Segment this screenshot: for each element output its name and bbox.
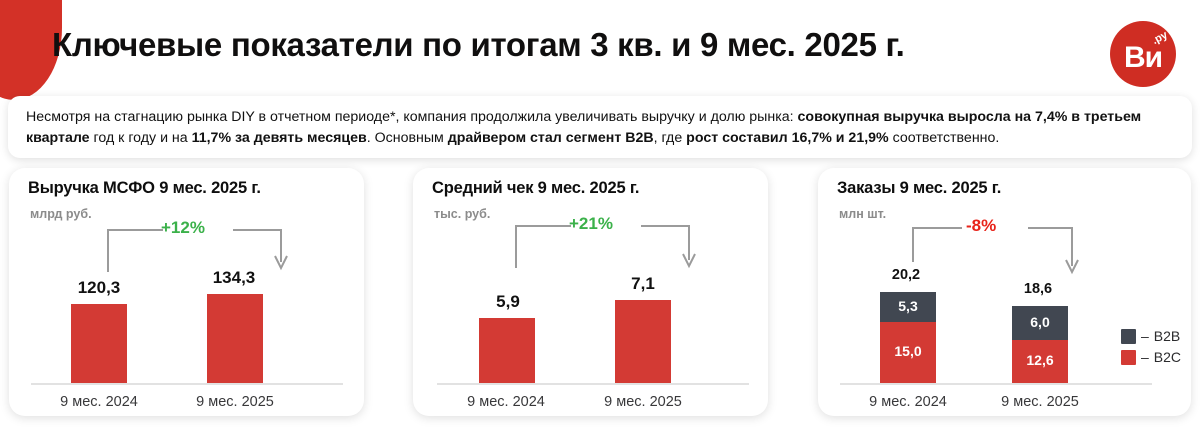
chart-plot-area: -8% 20,2 5,3 15,0 18,6 6,0 12,6 – bbox=[818, 168, 1191, 416]
page-title: Ключевые показатели по итогам 3 кв. и 9 … bbox=[52, 26, 905, 64]
bar-value-label: 120,3 bbox=[54, 278, 144, 298]
x-axis-line bbox=[31, 383, 343, 385]
legend-dash: – bbox=[1141, 328, 1149, 344]
legend-label-b2b: B2B bbox=[1154, 328, 1180, 344]
x-axis-line bbox=[437, 383, 749, 385]
bar-revenue-2024 bbox=[71, 304, 127, 384]
infographic-root: Ключевые показатели по итогам 3 кв. и 9 … bbox=[0, 0, 1200, 430]
summary-text: Несмотря на стагнацию рынка DIY в отчетн… bbox=[26, 107, 1174, 148]
delta-badge: -8% bbox=[966, 216, 996, 236]
page-header: Ключевые показатели по итогам 3 кв. и 9 … bbox=[0, 0, 1200, 100]
legend-swatch-b2c-icon bbox=[1121, 350, 1136, 365]
chart-legend: – B2B – B2C bbox=[1121, 328, 1181, 370]
summary-seg-8: рост составил 16,7% и 21,9% bbox=[686, 130, 888, 146]
summary-seg-1: Несмотря на стагнацию рынка DIY в отчетн… bbox=[26, 109, 798, 125]
legend-item-b2b: – B2B bbox=[1121, 328, 1181, 344]
x-tick-label: 9 мес. 2025 bbox=[185, 394, 285, 410]
chart-plot-area: +21% 5,9 7,1 9 мес. 2024 9 мес. 2025 bbox=[413, 168, 768, 416]
summary-seg-9: соответственно. bbox=[889, 130, 1000, 146]
kpi-card-revenue: Выручка МСФО 9 мес. 2025 г. млрд руб. +1… bbox=[9, 168, 364, 416]
summary-seg-7: , где bbox=[654, 130, 687, 146]
x-tick-label: 9 мес. 2025 bbox=[593, 394, 693, 410]
kpi-card-orders: Заказы 9 мес. 2025 г. млн шт. -8% 20,2 5… bbox=[818, 168, 1191, 416]
legend-swatch-b2b-icon bbox=[1121, 329, 1136, 344]
legend-label-b2c: B2C bbox=[1154, 349, 1181, 365]
brand-logo-text: Ви bbox=[1110, 21, 1176, 87]
x-tick-label: 9 мес. 2024 bbox=[49, 394, 149, 410]
delta-badge: +21% bbox=[569, 214, 613, 234]
x-tick-label: 9 мес. 2025 bbox=[990, 394, 1090, 410]
chart-plot-area: +12% 120,3 134,3 9 мес. 2024 9 мес. 2025 bbox=[9, 168, 364, 416]
kpi-card-average-check: Средний чек 9 мес. 2025 г. тыс. руб. +21… bbox=[413, 168, 768, 416]
segment-value-label: 6,0 bbox=[1012, 314, 1068, 330]
summary-seg-6: драйвером стал сегмент B2B bbox=[448, 130, 654, 146]
segment-value-label: 12,6 bbox=[1012, 352, 1068, 368]
bar-revenue-2025 bbox=[207, 294, 263, 384]
brand-logo: Ви .ру bbox=[1110, 21, 1176, 87]
x-tick-label: 9 мес. 2024 bbox=[858, 394, 958, 410]
segment-value-label: 15,0 bbox=[880, 343, 936, 359]
bar-value-label: 7,1 bbox=[603, 274, 683, 294]
summary-seg-4: 11,7% за девять месяцев bbox=[192, 130, 367, 146]
summary-banner: Несмотря на стагнацию рынка DIY в отчетн… bbox=[8, 96, 1192, 158]
legend-item-b2c: – B2C bbox=[1121, 349, 1181, 365]
stack-total-label: 18,6 bbox=[995, 281, 1081, 297]
delta-badge: +12% bbox=[161, 218, 205, 238]
summary-seg-3: год к году и на bbox=[90, 130, 192, 146]
bar-check-2025 bbox=[615, 300, 671, 383]
kpi-cards-row: Выручка МСФО 9 мес. 2025 г. млрд руб. +1… bbox=[0, 168, 1200, 416]
stack-total-label: 20,2 bbox=[863, 267, 949, 283]
x-axis-line bbox=[840, 383, 1152, 385]
x-tick-label: 9 мес. 2024 bbox=[456, 394, 556, 410]
bar-check-2024 bbox=[479, 318, 535, 383]
bar-value-label: 5,9 bbox=[468, 292, 548, 312]
segment-value-label: 5,3 bbox=[880, 298, 936, 314]
summary-seg-5: . Основным bbox=[367, 130, 448, 146]
legend-dash: – bbox=[1141, 349, 1149, 365]
bar-value-label: 134,3 bbox=[189, 268, 279, 288]
